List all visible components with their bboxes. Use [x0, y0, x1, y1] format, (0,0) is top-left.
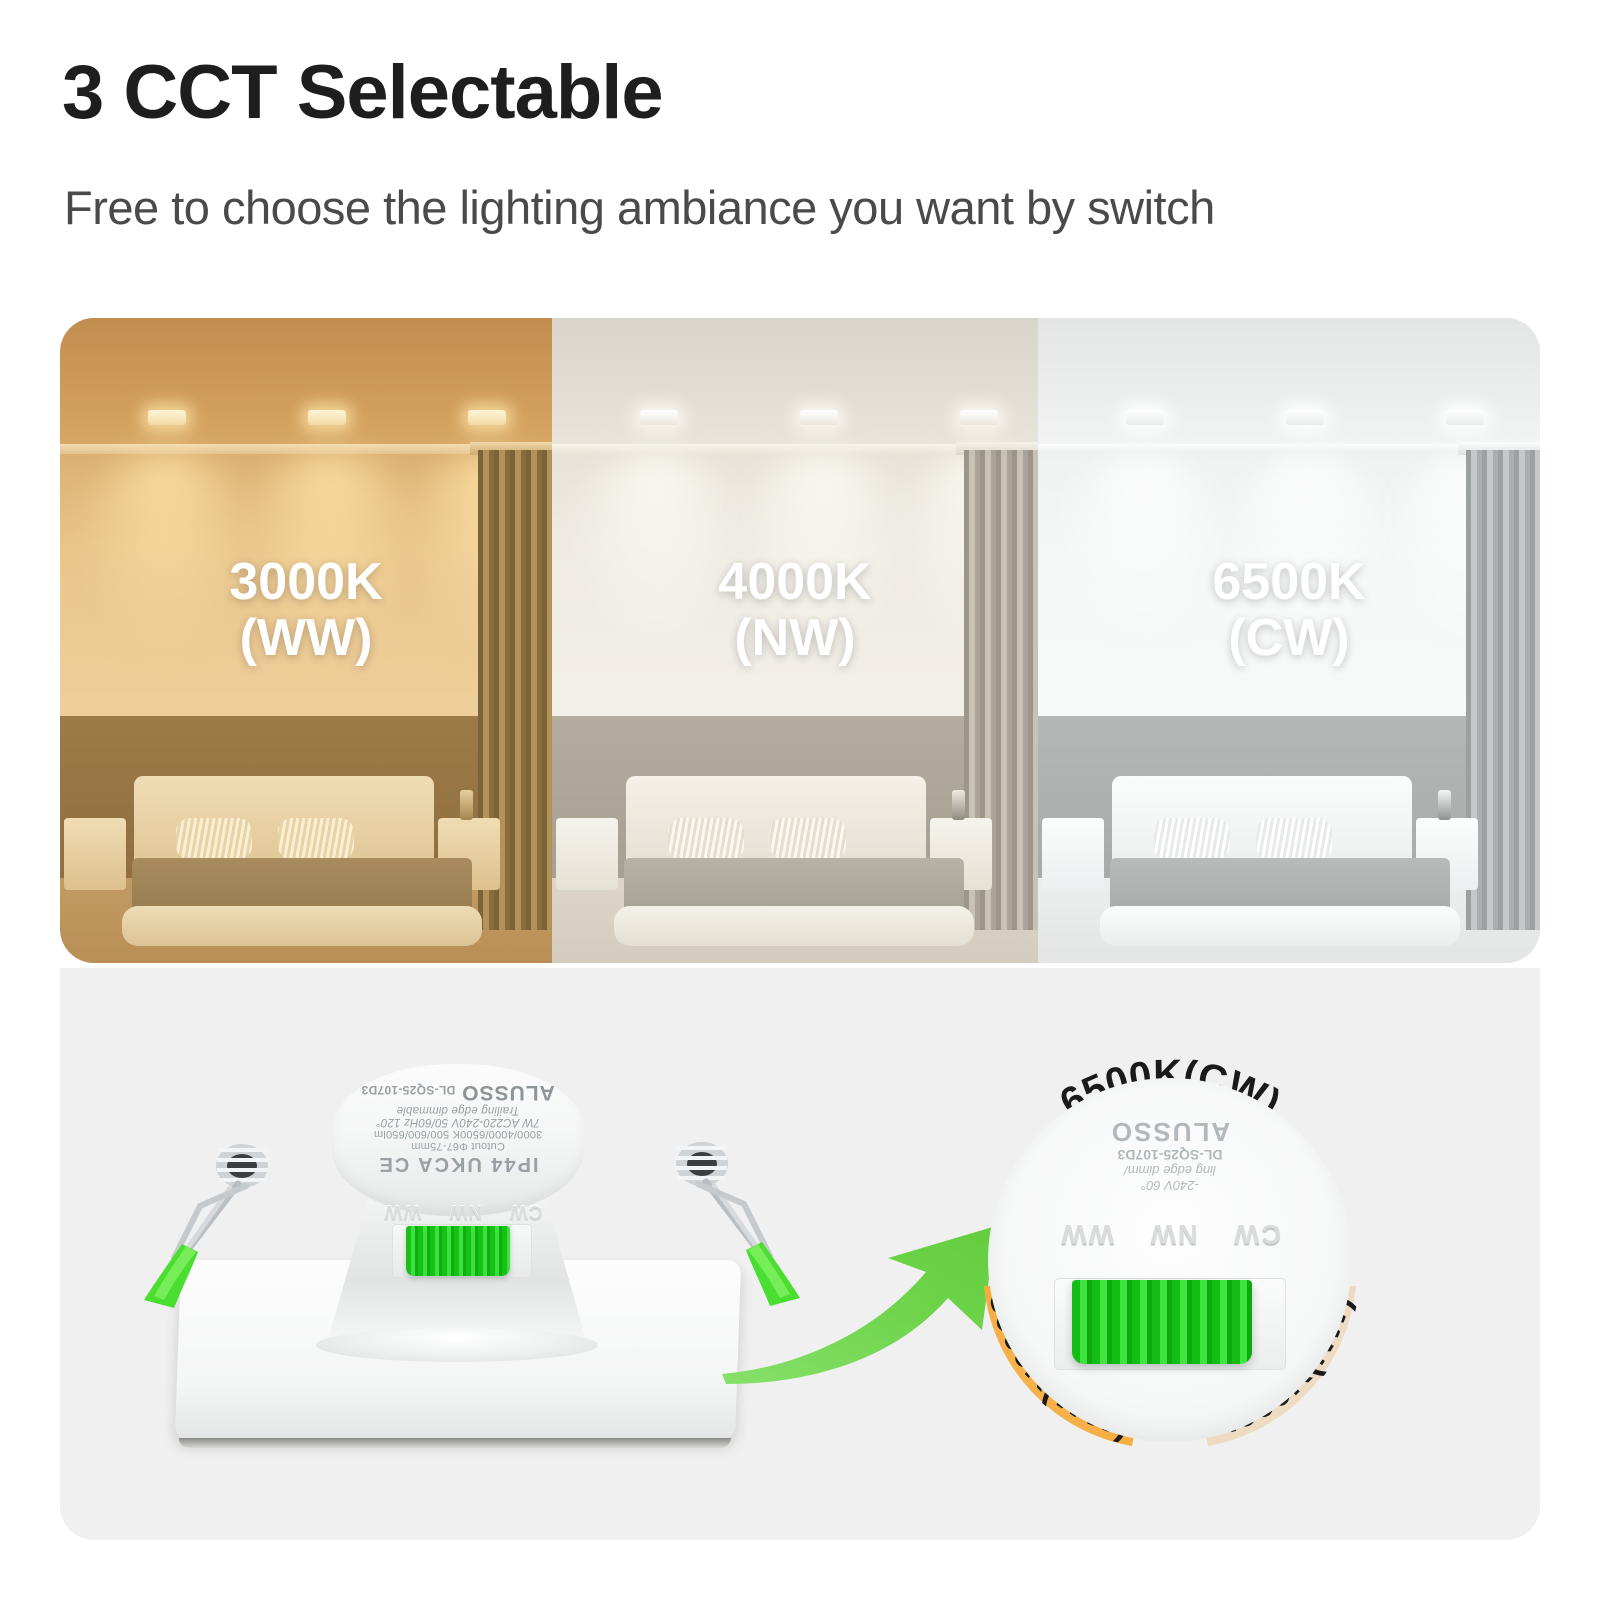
page-title: 3 CCT Selectable: [62, 55, 663, 131]
certification-marks: IP44 UKCA CE: [336, 1152, 580, 1175]
label-electrical: 7W AC220-240V 50/60Hz 120°: [336, 1116, 580, 1128]
closeup-dimmable-line: ling edge dimm/: [1038, 1163, 1302, 1178]
page-subtitle: Free to choose the lighting ambiance you…: [64, 182, 1215, 234]
pillow: [278, 818, 354, 860]
nightstand: [556, 818, 618, 890]
ceiling-downlight-icon: [1126, 410, 1164, 425]
spring-coil-icon: [675, 1142, 728, 1186]
infographic-page: 3 CCT Selectable Free to choose the ligh…: [0, 0, 1600, 1600]
downlight-product-image: IP44 UKCA CE Cutout Φ67-75mm 3000/4000/6…: [120, 1028, 820, 1458]
ceiling-downlight-icon: [308, 410, 346, 425]
pillow: [770, 818, 846, 860]
room-panel-3000k: 3000K (WW): [60, 318, 552, 963]
brand-logo: ALUSSO: [461, 1081, 555, 1104]
pillow: [1256, 818, 1332, 860]
closeup-label: -240V 60° ling edge dimm/ DL-SQ25-107D3 …: [1038, 1116, 1302, 1193]
product-detail-panel: IP44 UKCA CE Cutout Φ67-75mm 3000/4000/6…: [60, 968, 1540, 1540]
ceiling-downlight-icon: [1286, 410, 1324, 425]
cct-temperature: 6500K: [1212, 553, 1365, 611]
label-dimmable: Trailing edge dimmable: [336, 1104, 580, 1116]
cct-label-3000k: 3000K (WW): [60, 554, 552, 666]
label-output: 3000/4000/6500K 500/600/650lm: [336, 1128, 580, 1140]
ceiling: [60, 318, 552, 450]
nightstand: [1042, 818, 1104, 890]
ceiling-downlight-icon: [1446, 410, 1484, 425]
closeup-mode-ww: WW: [1059, 1218, 1114, 1249]
pillow: [176, 818, 252, 860]
mode-mark-nw: NW: [448, 1200, 482, 1222]
closeup-volt-line: -240V 60°: [1038, 1178, 1302, 1193]
closeup-mode-marks: CW NW WW: [1042, 1218, 1298, 1249]
cct-label-6500k: 6500K (CW): [1038, 554, 1540, 666]
ceiling-downlight-icon: [148, 410, 186, 425]
bed-base: [122, 906, 482, 946]
closeup-brand: ALUSSO: [1038, 1116, 1302, 1147]
mode-mark-ww: WW: [383, 1200, 421, 1222]
bed-base: [1100, 906, 1460, 946]
pillow: [668, 818, 744, 860]
closeup-switch-knob[interactable]: [1072, 1280, 1252, 1364]
cct-label-4000k: 4000K (NW): [552, 554, 1038, 666]
table-lamp: [1438, 790, 1451, 820]
table-lamp: [952, 790, 965, 820]
downlight-closeup: -240V 60° ling edge dimm/ DL-SQ25-107D3 …: [988, 1078, 1352, 1442]
cct-temperature: 3000K: [229, 553, 382, 611]
cct-room-comparison: 3000K (WW): [60, 318, 1540, 963]
bed-base: [614, 906, 974, 946]
room-panel-4000k: 4000K (NW): [552, 318, 1038, 963]
label-cutout: Cutout Φ67-75mm: [336, 1140, 580, 1152]
mode-marks: CW NW WW: [370, 1200, 556, 1222]
cct-code: (WW): [60, 610, 552, 666]
ceiling: [552, 318, 1038, 450]
ceiling: [1038, 318, 1540, 450]
cct-code: (CW): [1038, 610, 1540, 666]
table-lamp: [460, 790, 473, 820]
closeup-mode-nw: NW: [1149, 1218, 1198, 1249]
closeup-mode-cw: CW: [1232, 1218, 1281, 1249]
cct-selection-ring: 6500K(CW) 3000K(WW) 4000K(NW) -240V 60° …: [870, 986, 1470, 1526]
ceiling-downlight-icon: [800, 410, 838, 425]
room-panel-6500k: 6500K (CW): [1038, 318, 1540, 963]
cct-switch-knob[interactable]: [406, 1226, 510, 1276]
nightstand: [64, 818, 126, 890]
pillow: [1154, 818, 1230, 860]
product-label: IP44 UKCA CE Cutout Φ67-75mm 3000/4000/6…: [336, 1080, 580, 1175]
ceiling-downlight-icon: [468, 410, 506, 425]
cct-temperature: 4000K: [718, 553, 871, 611]
spring-clip-left: [134, 1140, 284, 1310]
ceiling-downlight-icon: [640, 410, 678, 425]
closeup-model: DL-SQ25-107D3: [1038, 1147, 1302, 1163]
cct-code: (NW): [552, 610, 1038, 666]
mode-mark-cw: CW: [509, 1200, 543, 1222]
reflector-lip: [316, 1328, 598, 1362]
spring-coil-icon: [216, 1144, 269, 1188]
ceiling-downlight-icon: [960, 410, 998, 425]
model-number: DL-SQ25-107D3: [361, 1083, 455, 1097]
